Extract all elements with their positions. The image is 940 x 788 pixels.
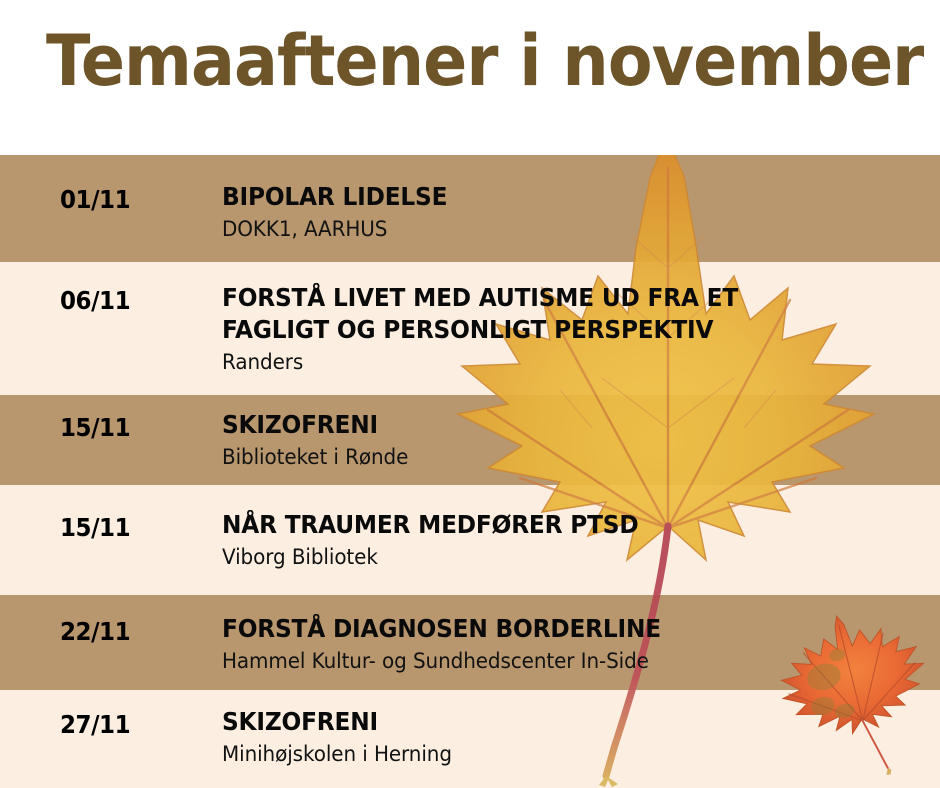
event-info: SKIZOFRENI Biblioteket i Rønde xyxy=(222,409,922,471)
event-date: 06/11 xyxy=(60,286,130,315)
event-row-4: 15/11 NÅR TRAUMER MEDFØRER PTSD Viborg B… xyxy=(0,485,940,595)
event-title: FORSTÅ DIAGNOSEN BORDERLINE xyxy=(222,613,873,645)
event-row-1: 01/11 BIPOLAR LIDELSE DOKK1, AARHUS xyxy=(0,155,940,262)
event-date: 22/11 xyxy=(60,617,130,646)
poster-canvas: Temaaftener i november 01/11 BIPOLAR LID… xyxy=(0,0,940,788)
event-date: 01/11 xyxy=(60,185,130,214)
event-info: SKIZOFRENI Minihøjskolen i Herning xyxy=(222,706,922,768)
event-title: BIPOLAR LIDELSE xyxy=(222,181,873,213)
event-venue: Viborg Bibliotek xyxy=(222,544,887,571)
event-row-5: 22/11 FORSTÅ DIAGNOSEN BORDERLINE Hammel… xyxy=(0,595,940,690)
event-row-6: 27/11 SKIZOFRENI Minihøjskolen i Herning xyxy=(0,690,940,788)
event-date: 15/11 xyxy=(60,513,130,542)
event-info: FORSTÅ LIVET MED AUTISME UD FRA ET FAGLI… xyxy=(222,282,922,376)
event-title: FORSTÅ LIVET MED AUTISME UD FRA ET xyxy=(222,282,873,314)
event-venue: Hammel Kultur- og Sundhedscenter In-Side xyxy=(222,648,887,675)
event-title: SKIZOFRENI xyxy=(222,706,873,738)
page-title: Temaaftener i november xyxy=(46,26,923,96)
event-venue: Randers xyxy=(222,349,887,376)
event-venue: Minihøjskolen i Herning xyxy=(222,741,887,768)
event-title-line2: FAGLIGT OG PERSONLIGT PERSPEKTIV xyxy=(222,314,873,346)
event-info: FORSTÅ DIAGNOSEN BORDERLINE Hammel Kultu… xyxy=(222,613,922,675)
event-info: BIPOLAR LIDELSE DOKK1, AARHUS xyxy=(222,181,922,243)
event-row-3: 15/11 SKIZOFRENI Biblioteket i Rønde xyxy=(0,395,940,485)
event-info: NÅR TRAUMER MEDFØRER PTSD Viborg Bibliot… xyxy=(222,509,922,571)
event-venue: Biblioteket i Rønde xyxy=(222,444,887,471)
event-title: SKIZOFRENI xyxy=(222,409,873,441)
poster-header: Temaaftener i november xyxy=(0,0,940,155)
event-date: 27/11 xyxy=(60,710,130,739)
event-date: 15/11 xyxy=(60,413,130,442)
event-title: NÅR TRAUMER MEDFØRER PTSD xyxy=(222,509,873,541)
event-row-2: 06/11 FORSTÅ LIVET MED AUTISME UD FRA ET… xyxy=(0,262,940,395)
event-venue: DOKK1, AARHUS xyxy=(222,216,887,243)
